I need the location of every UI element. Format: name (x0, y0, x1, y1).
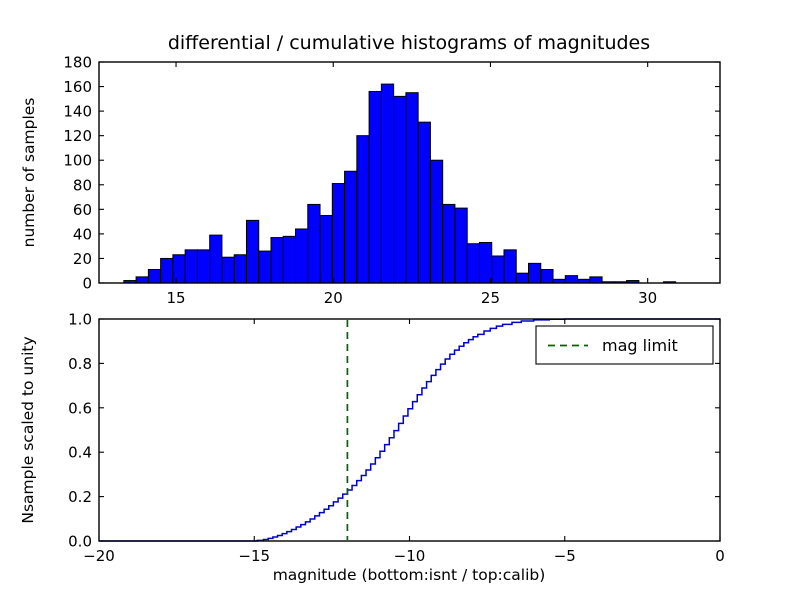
histogram-bar (529, 263, 541, 283)
histogram-bar (590, 277, 602, 283)
legend[interactable]: mag limit (536, 326, 713, 364)
histogram-bar (516, 273, 528, 283)
y-ticklabel: 160 (63, 78, 92, 96)
histogram-bar (455, 208, 467, 283)
histogram-bar (345, 171, 357, 283)
histogram-bar (234, 255, 246, 283)
page-title: differential / cumulative histograms of … (168, 32, 650, 54)
histogram-bar (259, 251, 271, 283)
x-ticklabel: 30 (638, 289, 657, 307)
y-ticklabel: 180 (63, 54, 92, 72)
histogram-bar (173, 255, 185, 283)
histogram-bar (467, 244, 479, 283)
cumulative-histogram-panel: 0.00.20.40.60.81.0 −20−15−10−50 Nsample … (19, 311, 725, 585)
histogram-bar (381, 84, 393, 283)
histogram-bar (210, 235, 222, 283)
x-ticklabel: 20 (324, 289, 343, 307)
x-ticklabel: −5 (554, 547, 576, 565)
top-panel-x-ticklabels: 15202530 (166, 289, 657, 307)
histogram-bar (320, 215, 332, 283)
y-ticklabel: 140 (63, 103, 92, 121)
x-ticklabel: 25 (481, 289, 500, 307)
histogram-bar (418, 122, 430, 283)
histogram-bar (296, 229, 308, 283)
histogram-bar (406, 93, 418, 283)
histogram-bar (283, 236, 295, 283)
top-panel-y-ticklabels: 020406080100120140160180 (63, 54, 92, 293)
y-ticklabel: 20 (73, 250, 92, 268)
histogram-bar (197, 250, 209, 283)
y-axis-label-top: number of samples (20, 98, 38, 248)
chart-canvas: differential / cumulative histograms of … (0, 0, 800, 600)
histogram-bars (124, 84, 676, 283)
histogram-bar (492, 256, 504, 283)
y-ticklabel: 0.4 (68, 444, 92, 462)
bottom-panel-y-ticklabels: 0.00.20.40.60.81.0 (68, 311, 92, 551)
x-ticklabel: −10 (394, 547, 426, 565)
histogram-bar (430, 160, 442, 283)
histogram-bar (308, 204, 320, 283)
histogram-bar (443, 204, 455, 283)
histogram-bar (271, 238, 283, 283)
y-ticklabel: 0.2 (68, 488, 92, 506)
x-ticklabel: 0 (715, 547, 725, 565)
y-axis-label-bottom: Nsample scaled to unity (19, 336, 37, 523)
y-ticklabel: 1.0 (68, 311, 92, 329)
y-ticklabel: 80 (73, 176, 92, 194)
differential-histogram-panel: 020406080100120140160180 15202530 number… (20, 54, 720, 308)
legend-label-mag-limit: mag limit (602, 336, 678, 355)
histogram-bar (394, 96, 406, 283)
histogram-bar (222, 257, 234, 283)
bottom-panel-x-ticklabels: −20−15−10−50 (83, 547, 725, 565)
y-ticklabel: 120 (63, 127, 92, 145)
histogram-bar (161, 258, 173, 283)
histogram-bar (136, 277, 148, 283)
y-ticklabel: 60 (73, 201, 92, 219)
x-ticklabel: −20 (83, 547, 115, 565)
y-ticklabel: 0.6 (68, 399, 92, 417)
x-ticklabel: 15 (166, 289, 185, 307)
x-axis-label: magnitude (bottom:isnt / top:calib) (273, 566, 546, 584)
y-ticklabel: 0 (82, 275, 92, 293)
histogram-bar (185, 250, 197, 283)
histogram-bar (357, 136, 369, 283)
y-ticklabel: 40 (73, 225, 92, 243)
histogram-bar (504, 250, 516, 283)
histogram-bar (541, 269, 553, 283)
matplotlib-figure: differential / cumulative histograms of … (0, 0, 800, 600)
y-ticklabel: 100 (63, 152, 92, 170)
histogram-bar (148, 269, 160, 283)
y-ticklabel: 0.8 (68, 355, 92, 373)
x-ticklabel: −15 (238, 547, 270, 565)
histogram-bar (565, 276, 577, 283)
histogram-bar (369, 91, 381, 283)
histogram-bar (246, 220, 258, 283)
histogram-bar (332, 184, 344, 283)
histogram-bar (479, 242, 491, 283)
